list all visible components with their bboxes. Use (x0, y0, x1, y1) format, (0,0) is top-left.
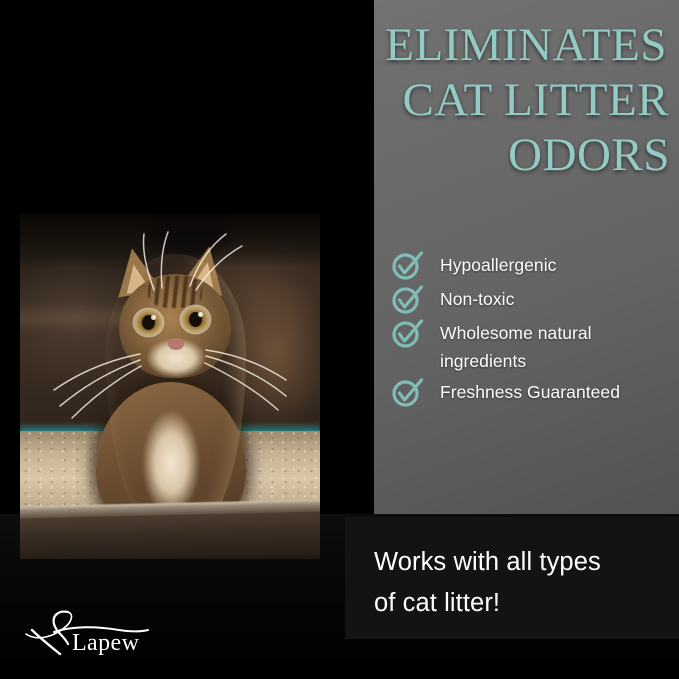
product-ad-image: ELIMINATES CAT LITTER ODORS Hypoallergen… (0, 0, 679, 679)
feature-label: Non-toxic (424, 285, 514, 313)
kitten-litter-box-photo (20, 214, 320, 559)
feature-label: Freshness Guaranteed (424, 378, 620, 406)
feature-label: Wholesome natural ingredients (424, 319, 676, 375)
headline-line-3: ODORS (292, 128, 672, 183)
headline: ELIMINATES CAT LITTER ODORS (292, 18, 672, 183)
callout-line-2: of cat litter! (374, 583, 666, 624)
check-circle-icon (392, 379, 424, 409)
headline-line-2: CAT LITTER (292, 73, 672, 128)
feature-item: Hypoallergenic (392, 251, 676, 282)
brand-name: Lapew (72, 630, 139, 656)
check-circle-icon (392, 252, 424, 282)
feature-item: Freshness Guaranteed (392, 378, 676, 409)
litter-box-front-panel (20, 511, 320, 559)
callout-line-1: Works with all types (374, 542, 666, 583)
feature-item: Non-toxic (392, 285, 676, 316)
headline-line-1: ELIMINATES (292, 18, 672, 73)
feature-list: Hypoallergenic Non-toxic Wholesome natur… (392, 251, 676, 412)
feature-label: Hypoallergenic (424, 251, 556, 279)
check-circle-icon (392, 320, 424, 350)
callout-box: Works with all types of cat litter! (345, 517, 679, 639)
brand-logo: Lapew (24, 604, 154, 662)
check-circle-icon (392, 286, 424, 316)
callout-text: Works with all types of cat litter! (374, 542, 666, 624)
feature-item: Wholesome natural ingredients (392, 319, 676, 375)
